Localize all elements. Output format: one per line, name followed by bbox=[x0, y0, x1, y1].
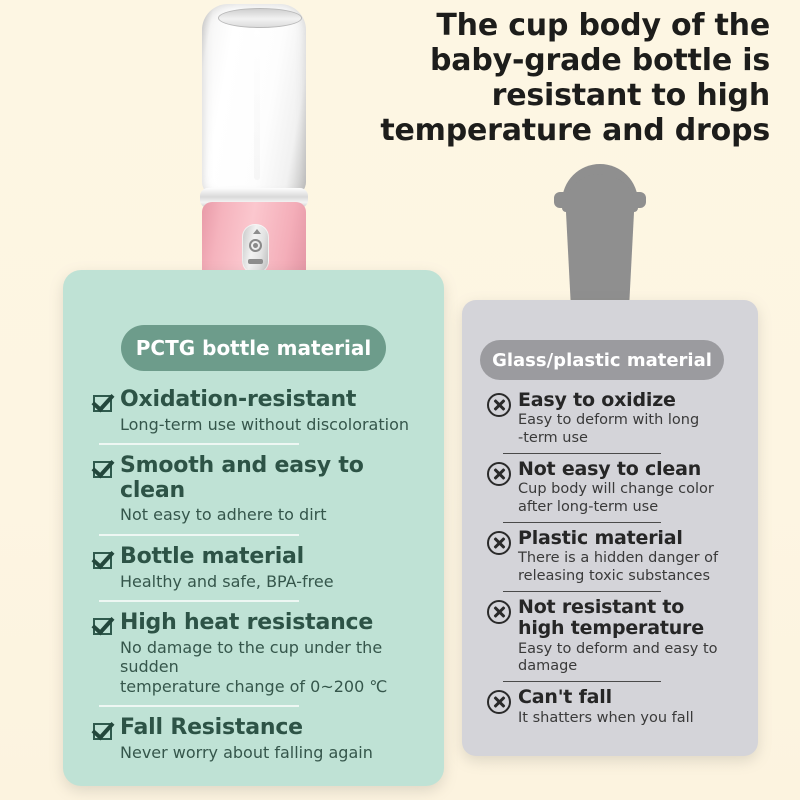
power-button-icon bbox=[249, 239, 262, 252]
feature-desc-line: Easy to deform and easy to bbox=[518, 641, 743, 658]
feature-title-line: high temperature bbox=[518, 618, 743, 639]
x-circle-icon bbox=[487, 531, 511, 555]
check-icon bbox=[93, 552, 112, 569]
list-item: High heat resistance No damage to the cu… bbox=[93, 611, 429, 707]
list-divider bbox=[503, 522, 661, 523]
x-circle-icon bbox=[487, 690, 511, 714]
feature-desc: Not easy to adhere to dirt bbox=[120, 505, 429, 525]
blender-cup-body bbox=[202, 4, 306, 196]
feature-title-line: Not resistant to bbox=[518, 597, 743, 618]
list-divider bbox=[99, 600, 299, 602]
feature-title: High heat resistance bbox=[120, 611, 429, 636]
feature-desc: Never worry about falling again bbox=[120, 743, 429, 763]
x-circle-icon bbox=[487, 600, 511, 624]
feature-desc: Cup body will change color after long-te… bbox=[518, 481, 743, 516]
list-item: Not resistant to high temperature Easy t… bbox=[487, 597, 743, 682]
feature-desc: Easy to deform with long -term use bbox=[518, 412, 743, 447]
blender-cup-highlight bbox=[254, 30, 260, 180]
feature-desc-line: Long-term use without discoloration bbox=[120, 415, 429, 435]
headline-line-4: temperature and drops bbox=[380, 113, 770, 148]
feature-title-line: Plastic material bbox=[518, 528, 743, 549]
x-circle-icon bbox=[487, 393, 511, 417]
feature-desc-line: There is a hidden danger of bbox=[518, 550, 743, 567]
list-divider bbox=[99, 705, 299, 707]
glass-drawback-list: Easy to oxidize Easy to deform with long… bbox=[487, 390, 743, 727]
feature-desc-line: No damage to the cup under the sudden bbox=[120, 638, 429, 677]
pctg-feature-list: Oxidation-resistant Long-term use withou… bbox=[93, 388, 429, 762]
feature-title: Smooth and easy to clean bbox=[120, 454, 429, 503]
feature-desc: Healthy and safe, BPA-free bbox=[120, 572, 429, 592]
headline-line-1: The cup body of the bbox=[380, 8, 770, 43]
feature-title: Easy to oxidize bbox=[518, 390, 743, 411]
pctg-material-panel: PCTG bottle material Oxidation-resistant… bbox=[63, 270, 444, 786]
blender-control-panel bbox=[242, 224, 269, 274]
feature-title: Can't fall bbox=[518, 687, 743, 708]
feature-desc-line: Cup body will change color bbox=[518, 481, 743, 498]
list-item: Smooth and easy to clean Not easy to adh… bbox=[93, 454, 429, 536]
list-item: Can't fall It shatters when you fall bbox=[487, 687, 743, 727]
feature-title: Oxidation-resistant bbox=[120, 388, 429, 413]
feature-desc: It shatters when you fall bbox=[518, 710, 743, 727]
list-item: Not easy to clean Cup body will change c… bbox=[487, 459, 743, 523]
feature-title: Plastic material bbox=[518, 528, 743, 549]
triangle-indicator-icon bbox=[253, 229, 261, 234]
list-divider bbox=[99, 443, 299, 445]
check-icon bbox=[93, 395, 112, 412]
check-icon bbox=[93, 618, 112, 635]
feature-desc-line: -term use bbox=[518, 430, 743, 447]
feature-desc-line: after long-term use bbox=[518, 499, 743, 516]
product-photo-blender bbox=[196, 2, 312, 290]
feature-desc-line: It shatters when you fall bbox=[518, 710, 743, 727]
feature-title: Bottle material bbox=[120, 545, 429, 570]
feature-title-line: Easy to oxidize bbox=[518, 390, 743, 411]
feature-desc: Easy to deform and easy to damage bbox=[518, 641, 743, 676]
feature-title-line: Not easy to clean bbox=[518, 459, 743, 480]
feature-desc-line: Healthy and safe, BPA-free bbox=[120, 572, 429, 592]
pctg-panel-title-pill: PCTG bottle material bbox=[121, 325, 386, 371]
pctg-panel-title: PCTG bottle material bbox=[136, 336, 371, 360]
feature-desc-line: Never worry about falling again bbox=[120, 743, 429, 763]
list-item: Plastic material There is a hidden dange… bbox=[487, 528, 743, 592]
feature-title-line: Can't fall bbox=[518, 687, 743, 708]
check-icon bbox=[93, 461, 112, 478]
glass-plastic-material-panel: Glass/plastic material Easy to oxidize E… bbox=[462, 300, 758, 756]
list-divider bbox=[503, 681, 661, 682]
blender-cup-rim bbox=[218, 8, 302, 28]
list-item: Bottle material Healthy and safe, BPA-fr… bbox=[93, 545, 429, 602]
x-circle-icon bbox=[487, 462, 511, 486]
battery-indicator-icon bbox=[248, 259, 263, 264]
headline-line-3: resistant to high bbox=[380, 78, 770, 113]
feature-title: Not easy to clean bbox=[518, 459, 743, 480]
headline-line-2: baby-grade bottle is bbox=[380, 43, 770, 78]
page-title: The cup body of the baby-grade bottle is… bbox=[380, 8, 770, 148]
check-icon bbox=[93, 723, 112, 740]
feature-desc-line: Not easy to adhere to dirt bbox=[120, 505, 429, 525]
feature-desc-line: temperature change of 0~200 ℃ bbox=[120, 677, 429, 697]
feature-desc-line: releasing toxic substances bbox=[518, 568, 743, 585]
feature-desc: There is a hidden danger of releasing to… bbox=[518, 550, 743, 585]
infographic-canvas: The cup body of the baby-grade bottle is… bbox=[0, 0, 800, 800]
glass-panel-title: Glass/plastic material bbox=[492, 350, 712, 371]
list-item: Easy to oxidize Easy to deform with long… bbox=[487, 390, 743, 454]
feature-desc-line: Easy to deform with long bbox=[518, 412, 743, 429]
list-divider bbox=[503, 591, 661, 592]
list-item: Fall Resistance Never worry about fallin… bbox=[93, 716, 429, 762]
feature-desc-line: damage bbox=[518, 658, 743, 675]
list-divider bbox=[99, 534, 299, 536]
feature-title: Fall Resistance bbox=[120, 716, 429, 741]
glass-panel-title-pill: Glass/plastic material bbox=[480, 340, 724, 380]
feature-desc: Long-term use without discoloration bbox=[120, 415, 429, 435]
feature-desc: No damage to the cup under the sudden te… bbox=[120, 638, 429, 697]
list-divider bbox=[503, 453, 661, 454]
feature-title: Not resistant to high temperature bbox=[518, 597, 743, 640]
list-item: Oxidation-resistant Long-term use withou… bbox=[93, 388, 429, 445]
